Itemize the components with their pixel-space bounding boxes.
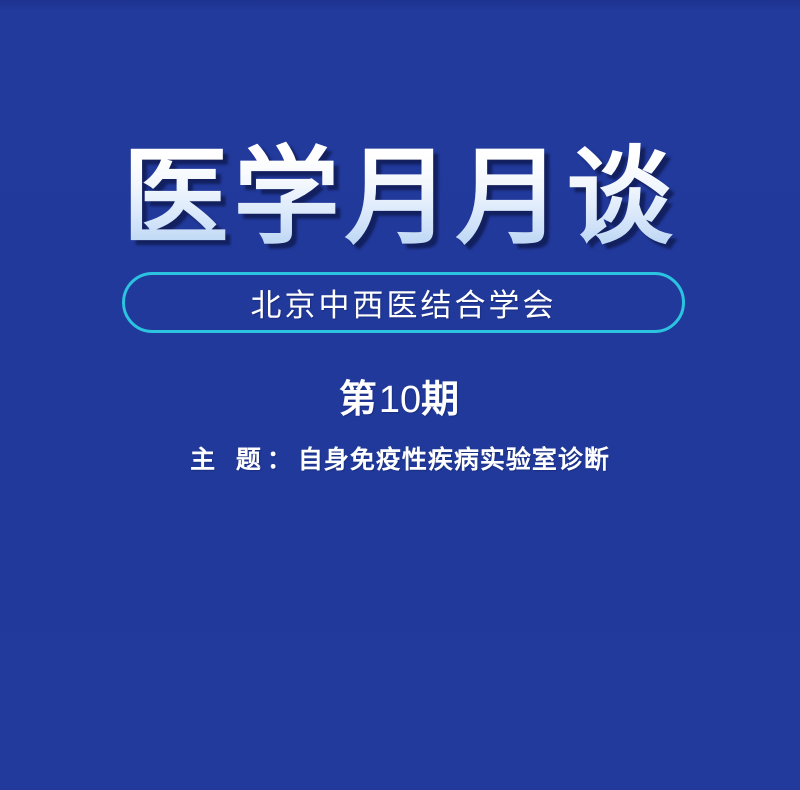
top-edge-shade (0, 0, 800, 10)
topic-label: 主 题： (190, 445, 298, 474)
organization-pill: 北京中西医结合学会 (122, 272, 685, 333)
issue-number-value: 10 (379, 379, 421, 421)
main-title-text: 医学月月谈 (123, 111, 678, 265)
lower-blank-area (0, 490, 800, 790)
organization-name: 北京中西医结合学会 (251, 280, 557, 325)
poster-canvas: 医学月月谈 医学月月谈 北京中西医结合学会 第10期 主 题：自身免疫性疾病实验… (0, 0, 800, 790)
issue-suffix: 期 (421, 376, 461, 421)
topic-line: 主 题：自身免疫性疾病实验室诊断 (0, 440, 800, 476)
topic-value: 自身免疫性疾病实验室诊断 (298, 445, 610, 474)
issue-prefix: 第 (339, 376, 379, 421)
main-title: 医学月月谈 医学月月谈 (0, 124, 800, 252)
issue-number: 第10期 (0, 368, 800, 423)
